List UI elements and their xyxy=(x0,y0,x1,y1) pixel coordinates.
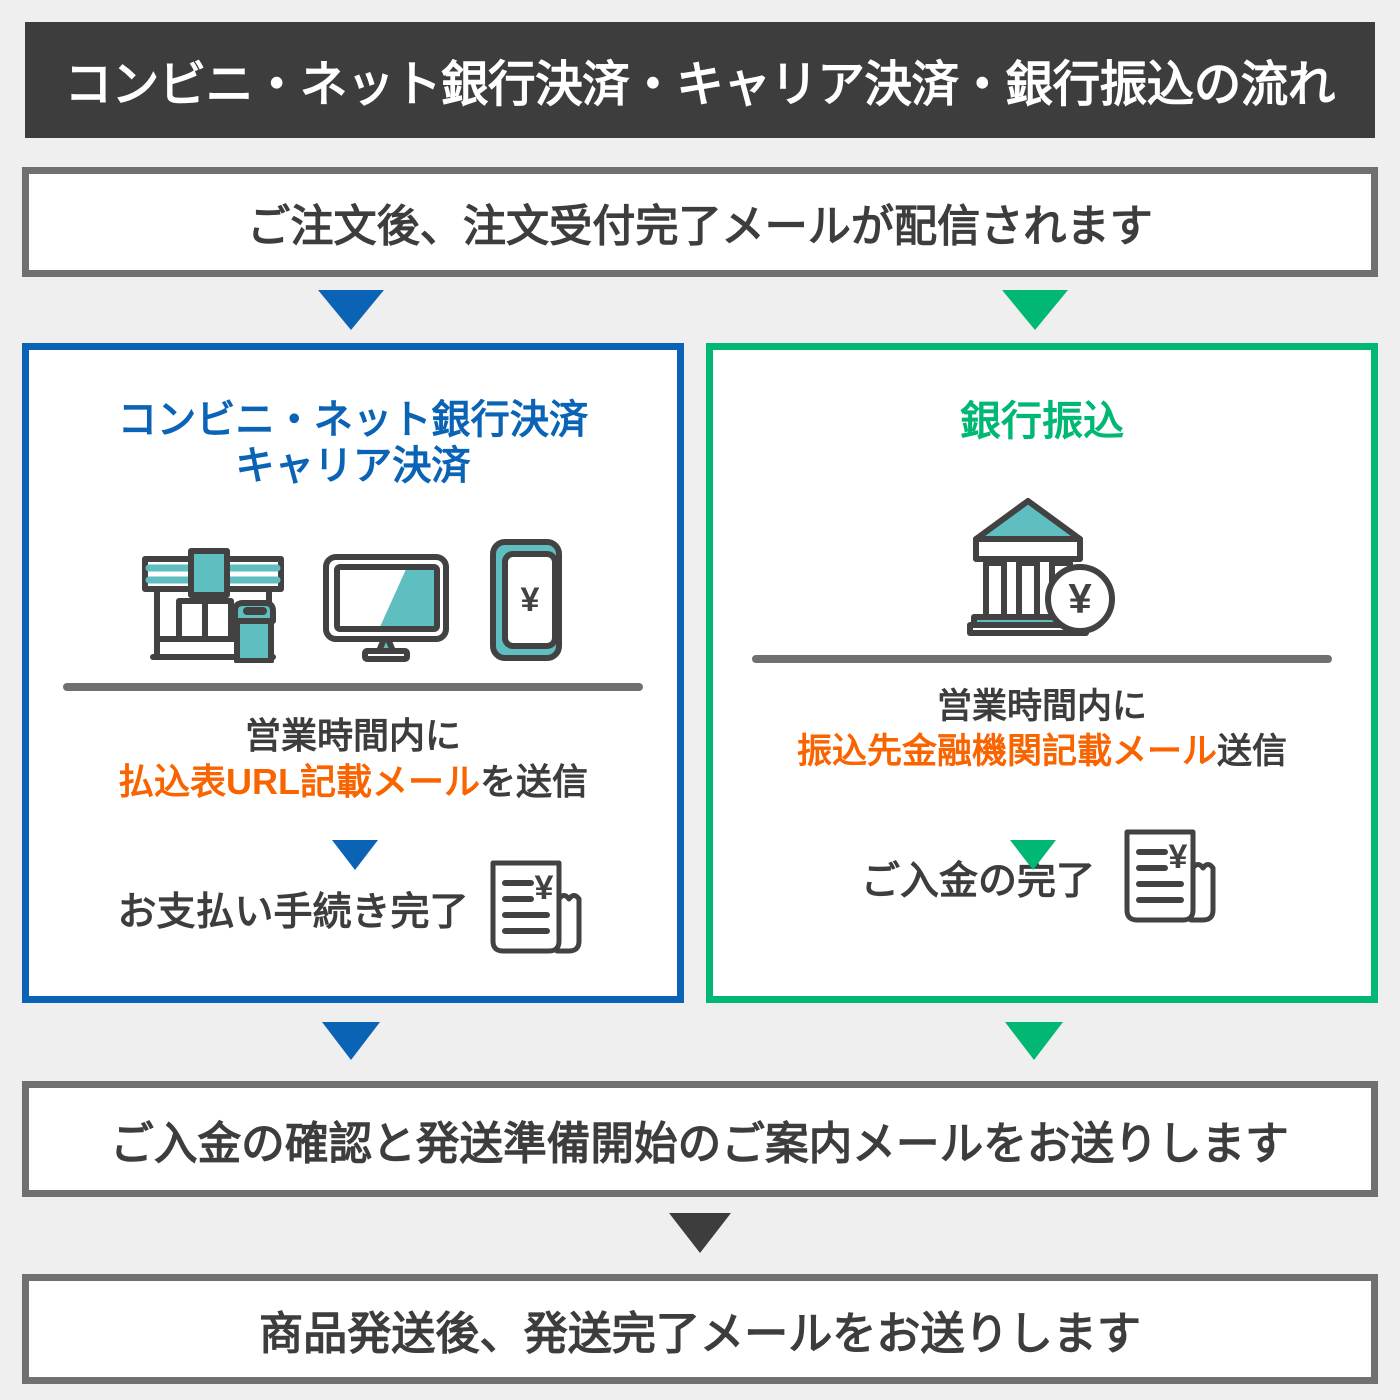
page-title: コンビニ・ネット銀行決済・キャリア決済・銀行振込の流れ xyxy=(65,45,1335,116)
arrow-down-to-shipped-icon xyxy=(669,1213,731,1253)
receipt-yen-icon: ¥ xyxy=(483,857,589,961)
step-order-received: ご注文後、注文受付完了メールが配信されます xyxy=(22,167,1378,277)
arrow-down-to-bank-icon xyxy=(1002,290,1068,330)
conveni-send-suffix: を送信 xyxy=(480,761,588,802)
conveni-send-highlight: 払込表URL記載メール xyxy=(118,761,480,802)
diagram-header: コンビニ・ネット銀行決済・キャリア決済・銀行振込の流れ xyxy=(25,22,1375,138)
bank-send-highlight: 振込先金融機関記載メール xyxy=(797,732,1217,771)
bank-divider xyxy=(752,655,1332,663)
step-shipped-label: 商品発送後、発送完了メールをお送りします xyxy=(259,1297,1141,1362)
conveni-done-row: お支払い手続き完了 ¥ xyxy=(29,857,677,961)
arrow-down-to-conveni-icon xyxy=(318,290,384,330)
arrow-down-conveni-to-confirm-icon xyxy=(322,1022,380,1060)
arrow-down-conveni-to-done-icon xyxy=(332,840,378,870)
convenience-store-icon xyxy=(141,545,285,663)
yen-glyph: ¥ xyxy=(1169,838,1188,876)
receipt-yen-icon: ¥ xyxy=(1117,826,1223,930)
arrow-down-bank-to-confirm-icon xyxy=(1005,1022,1063,1060)
yen-glyph: ¥ xyxy=(521,581,540,619)
bank-send-suffix: 送信 xyxy=(1217,732,1287,771)
method-panel-bank-title: 銀行振込 xyxy=(713,398,1371,445)
conveni-icon-row: ¥ xyxy=(29,513,677,663)
smartphone-yen-icon: ¥ xyxy=(487,537,565,663)
conveni-send-instruction: 営業時間内に 払込表URL記載メールを送信 xyxy=(29,713,677,805)
bank-send-line1: 営業時間内に xyxy=(937,687,1147,726)
yen-glyph: ¥ xyxy=(534,869,553,907)
bank-icon-row: ¥ xyxy=(713,489,1371,639)
conveni-divider xyxy=(63,683,643,691)
conveni-send-line1: 営業時間内に xyxy=(245,715,461,756)
step-order-received-label: ご注文後、注文受付完了メールが配信されます xyxy=(247,190,1153,254)
step-shipped: 商品発送後、発送完了メールをお送りします xyxy=(22,1274,1378,1384)
method-panel-conveni: コンビニ・ネット銀行決済 キャリア決済 xyxy=(22,343,684,1003)
bank-send-instruction: 営業時間内に 振込先金融機関記載メール送信 xyxy=(713,685,1371,775)
method-panel-conveni-title: コンビニ・ネット銀行決済 キャリア決済 xyxy=(35,398,670,489)
bank-yen-icon: ¥ xyxy=(962,493,1122,639)
payment-flow-diagram: コンビニ・ネット銀行決済・キャリア決済・銀行振込の流れ ご注文後、注文受付完了メ… xyxy=(0,0,1400,1400)
method-panel-bank: 銀行振込 xyxy=(706,343,1378,1003)
monitor-icon xyxy=(321,551,451,663)
arrow-down-bank-to-done-icon xyxy=(1010,840,1056,870)
step-payment-confirmed: ご入金の確認と発送準備開始のご案内メールをお送りします xyxy=(22,1081,1378,1197)
yen-glyph: ¥ xyxy=(1068,575,1092,622)
conveni-done-label: お支払い手続き完了 xyxy=(117,881,468,937)
step-payment-confirmed-label: ご入金の確認と発送準備開始のご案内メールをお送りします xyxy=(111,1107,1290,1172)
bank-done-label: ご入金の完了 xyxy=(861,850,1095,906)
